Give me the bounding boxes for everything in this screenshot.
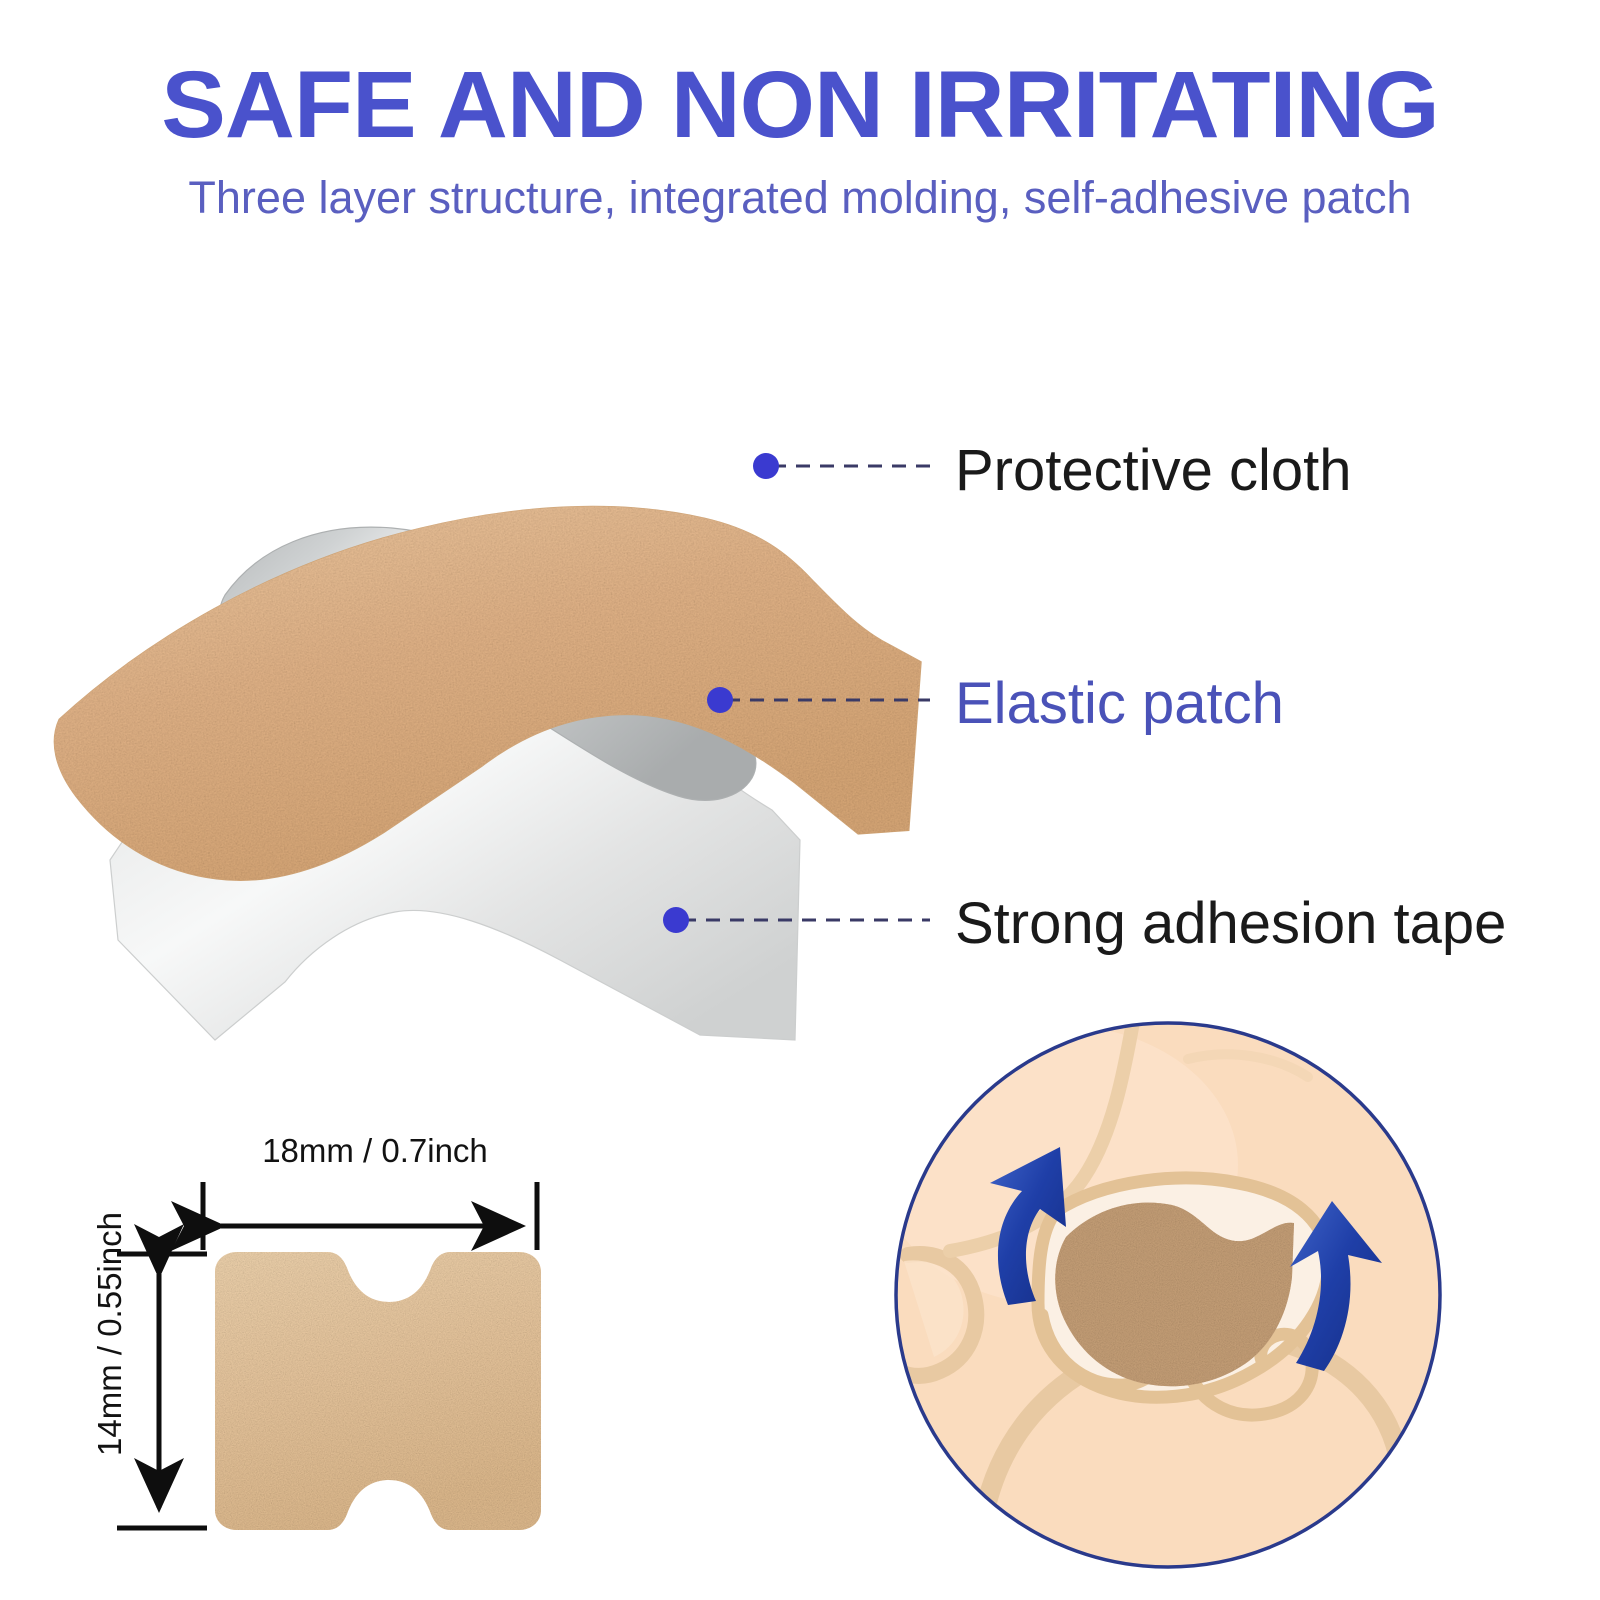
- patch-swatch: [215, 1252, 541, 1530]
- page-subtitle: Three layer structure, integrated moldin…: [0, 175, 1600, 220]
- callout-label-strong-adhesion-tape: Strong adhesion tape: [955, 890, 1506, 957]
- page-title: SAFE AND NON IRRITATING: [0, 58, 1600, 153]
- nostril-application-illustration: [888, 1015, 1448, 1575]
- callout-label-protective-cloth: Protective cloth: [955, 437, 1352, 504]
- header: SAFE AND NON IRRITATING Three layer stru…: [0, 0, 1600, 220]
- dimension-block: 18mm / 0.7inch 14mm / 0.55inch: [55, 1130, 585, 1560]
- callout-label-elastic-patch: Elastic patch: [955, 670, 1284, 737]
- exploded-layer-diagram: [0, 240, 960, 1060]
